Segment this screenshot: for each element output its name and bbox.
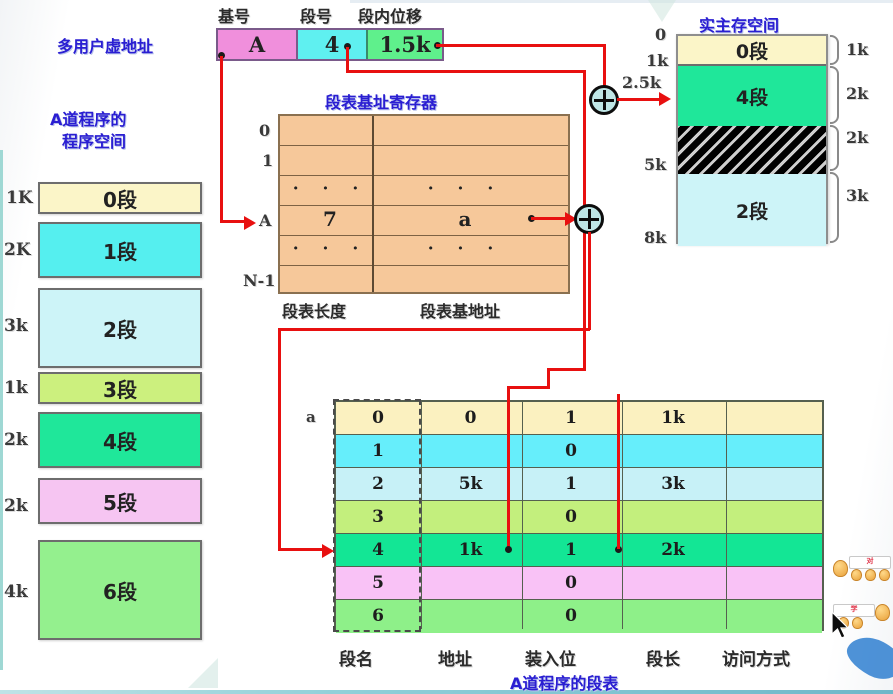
base-register-row[interactable] [280, 146, 568, 176]
br-rowlabel-0: 0 [259, 121, 270, 140]
va-header-segment: 段号 [300, 3, 332, 27]
st-access-1[interactable] [726, 435, 822, 466]
st-length-4[interactable]: 2k [622, 534, 724, 565]
st-length-3[interactable] [622, 501, 724, 532]
va-field-segment[interactable]: 4 [298, 30, 368, 59]
wire-st-up-vert [617, 394, 620, 549]
wire-arrow-to-base-register [244, 216, 256, 230]
st-colheader-address: 地址 [438, 645, 472, 670]
pm-block-free-hatched [678, 126, 826, 174]
br-base-dots-2: · · · [410, 234, 520, 264]
physical-memory-box: 0段 4段 2段 [676, 34, 828, 244]
top-edge-accent [350, 0, 893, 3]
program-segment-6[interactable]: 6段 [38, 540, 202, 640]
st-loaded-0[interactable]: 1 [522, 402, 620, 433]
program-segment-4[interactable]: 4段 [38, 412, 202, 468]
pm-brace-label-2k-b: 2k [846, 128, 868, 147]
st-access-2[interactable] [726, 468, 822, 499]
program-space-title-line1: A道程序的 [50, 106, 126, 130]
bottom-edge-accent [0, 690, 893, 694]
br-rowlabel-N1: N-1 [243, 271, 275, 290]
tag-badge-top[interactable]: 对 [849, 556, 891, 569]
decorative-triangle-top [648, 0, 676, 22]
left-edge-accent [0, 150, 3, 670]
st-loaded-4[interactable]: 1 [522, 534, 620, 565]
wire-adder-upper-out [617, 98, 661, 101]
pm-block-0[interactable]: 0段 [678, 36, 826, 66]
mouse-cursor-icon [832, 612, 854, 642]
st-length-5[interactable] [622, 567, 724, 598]
segment-table-pointer-label: a [306, 408, 316, 426]
wire-seg-horiz-b [547, 368, 586, 371]
st-name-2: 2 [336, 468, 420, 499]
chick-icon-4 [879, 569, 890, 581]
wire-seg-horiz-a [346, 70, 586, 73]
wire-seg-vert-c [547, 368, 550, 388]
adder-upper [589, 85, 619, 115]
wire-offset-horiz [436, 44, 606, 47]
base-register-row[interactable] [280, 266, 568, 296]
st-length-2[interactable]: 3k [622, 468, 724, 499]
st-name-0: 0 [336, 402, 420, 433]
pm-brace-3k [830, 172, 839, 243]
ps-size-3: 1k [4, 378, 28, 398]
wire-to-segtable-vert [278, 328, 281, 550]
wire-dot-st-address-4 [505, 546, 512, 553]
va-header-base: 基号 [218, 3, 250, 27]
adder-lower [574, 204, 604, 234]
program-segment-2[interactable]: 2段 [38, 288, 202, 368]
segment-table-title: A道程序的段表 [510, 670, 618, 694]
st-access-3[interactable] [726, 501, 822, 532]
st-name-5: 5 [336, 567, 420, 598]
wire-seg-horiz-c [507, 386, 550, 389]
virtual-address-bar: A 4 1.5k [216, 28, 444, 61]
wire-adder-lower-horiz [278, 328, 590, 331]
diagram-canvas: 多用户虚地址 基号 段号 段内位移 A 4 1.5k A道程序的 程序空间 1K… [0, 0, 893, 694]
pm-brace-2k-b [830, 125, 839, 171]
pm-brace-1k [830, 35, 839, 65]
st-name-1: 1 [336, 435, 420, 466]
va-header-offset: 段内位移 [358, 3, 422, 27]
program-segment-0[interactable]: 0段 [38, 182, 202, 214]
ps-size-5: 2k [4, 496, 28, 516]
br-colheader-base: 段表基地址 [420, 298, 500, 322]
ps-size-6: 4k [4, 582, 28, 602]
st-access-0[interactable] [726, 402, 822, 433]
st-access-6[interactable] [726, 600, 822, 631]
st-length-0[interactable]: 1k [622, 402, 724, 433]
base-register-row[interactable] [280, 116, 568, 146]
chick-icon-1 [833, 560, 848, 577]
br-colheader-length: 段表长度 [282, 298, 346, 322]
st-address-6[interactable] [421, 600, 520, 631]
st-loaded-6[interactable]: 0 [522, 600, 620, 631]
chick-icon-2 [851, 569, 862, 581]
st-address-0[interactable]: 0 [421, 402, 520, 433]
st-colheader-loaded: 装入位 [525, 645, 576, 670]
st-loaded-2[interactable]: 1 [522, 468, 620, 499]
base-register-title: 段表基址寄存器 [325, 89, 437, 113]
pm-block-4[interactable]: 4段 [678, 66, 826, 126]
st-address-5[interactable] [421, 567, 520, 598]
st-address-2[interactable]: 5k [421, 468, 520, 499]
br-base-dots-1: · · · [410, 174, 520, 204]
st-loaded-1[interactable]: 0 [522, 435, 620, 466]
wire-arrow-to-physical-memory [659, 92, 671, 106]
wire-arrow-to-segment-row-4 [322, 544, 334, 558]
virtual-address-title: 多用户虚地址 [57, 33, 153, 57]
pm-brace-label-3k: 3k [846, 186, 868, 205]
st-name-4: 4 [336, 534, 420, 565]
ps-size-1: 2K [4, 240, 31, 260]
st-colheader-access: 访问方式 [722, 645, 790, 670]
pm-tick-1k: 1k [646, 51, 668, 70]
st-colheader-length: 段长 [646, 645, 680, 670]
br-length-A[interactable]: 7 [290, 204, 370, 234]
program-segment-5[interactable]: 5段 [38, 478, 202, 524]
ps-size-4: 2k [4, 430, 28, 450]
st-address-3[interactable] [421, 501, 520, 532]
wire-base-horiz [220, 220, 246, 223]
physical-memory-title: 实主存空间 [699, 12, 779, 36]
st-colheader-name: 段名 [339, 645, 373, 670]
chick-icon-3 [865, 569, 876, 581]
st-access-5[interactable] [726, 567, 822, 598]
decorative-triangle-bottom [188, 658, 218, 688]
wire-a-horiz [531, 217, 567, 220]
pm-brace-label-1k: 1k [846, 40, 868, 59]
pm-block-2[interactable]: 2段 [678, 174, 826, 246]
pm-tick-5k: 5k [644, 155, 666, 174]
st-name-3: 3 [336, 501, 420, 532]
pm-brace-label-2k-a: 2k [846, 84, 868, 103]
pm-tick-8k: 8k [644, 228, 666, 247]
program-segment-3[interactable]: 3段 [38, 372, 202, 404]
br-len-dots-1: · · · [290, 174, 370, 204]
st-loaded-5[interactable]: 0 [522, 567, 620, 598]
va-field-base[interactable]: A [218, 30, 298, 59]
pm-brace-2k-a [830, 66, 839, 124]
st-loaded-3[interactable]: 0 [522, 501, 620, 532]
wire-adder-lower-vert [588, 232, 591, 330]
wire-seg-vert-d [507, 386, 510, 549]
chick-icon-5 [875, 604, 890, 621]
st-length-1[interactable] [622, 435, 724, 466]
br-rowlabel-1: 1 [262, 151, 273, 170]
program-space-title-line2: 程序空间 [62, 128, 126, 152]
wire-to-segtable-horiz [278, 548, 324, 551]
va-field-offset[interactable]: 1.5k [368, 30, 442, 59]
base-register-divider [372, 116, 374, 292]
st-access-4[interactable] [726, 534, 822, 565]
wire-seg-vert-a [346, 47, 349, 72]
pm-tick-0: 0 [655, 25, 666, 44]
st-length-6[interactable] [622, 600, 724, 631]
st-name-6: 6 [336, 600, 420, 631]
st-address-1[interactable] [421, 435, 520, 466]
br-base-A[interactable]: a [410, 204, 520, 234]
wire-base-vert [220, 56, 223, 220]
pm-tick-2-5k: 2.5k [622, 73, 661, 92]
br-rowlabel-A: A [259, 211, 271, 230]
ps-size-2: 3k [4, 316, 28, 336]
br-len-dots-2: · · · [290, 234, 370, 264]
ps-size-0: 1K [6, 188, 33, 208]
program-segment-1[interactable]: 1段 [38, 222, 202, 278]
